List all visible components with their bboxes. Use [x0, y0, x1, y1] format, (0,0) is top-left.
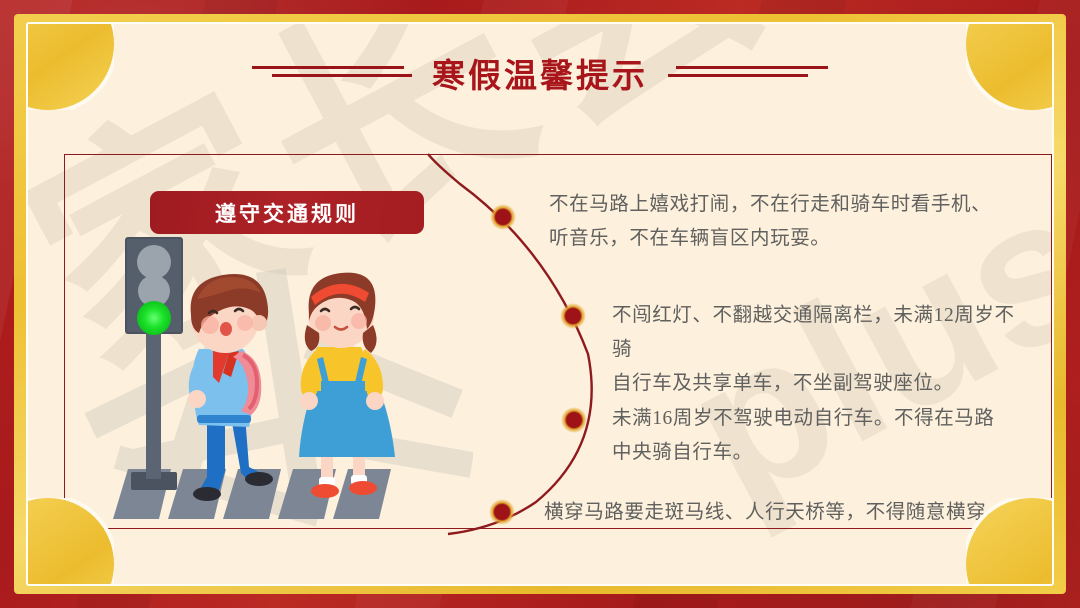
section-label-pill[interactable]: 遵守交通规则 — [150, 191, 424, 234]
list-item: 未满16周岁不驾驶电动自行车。不得在马路 中央骑自行车。 — [612, 402, 1032, 470]
poster-root: 家长会 plus 寒假温馨提示 — [0, 0, 1080, 608]
list-item: 不闯红灯、不翻越交通隔离栏，未满12周岁不骑 自行车及共享单车，不坐副驾驶座位。 — [612, 299, 1032, 401]
cream-inner-page: 家长会 plus 寒假温馨提示 — [26, 22, 1054, 586]
section-label-text: 遵守交通规则 — [215, 198, 359, 228]
list-item: 不在马路上嬉戏打闹，不在行走和骑车时看手机、 听音乐，不在车辆盲区内玩耍。 — [549, 188, 1019, 256]
bullet-text-list: 不在马路上嬉戏打闹，不在行走和骑车时看手机、 听音乐，不在车辆盲区内玩耍。 不闯… — [28, 24, 1052, 584]
list-item: 横穿马路要走斑马线、人行天桥等，不得随意横穿。 — [544, 496, 1024, 530]
